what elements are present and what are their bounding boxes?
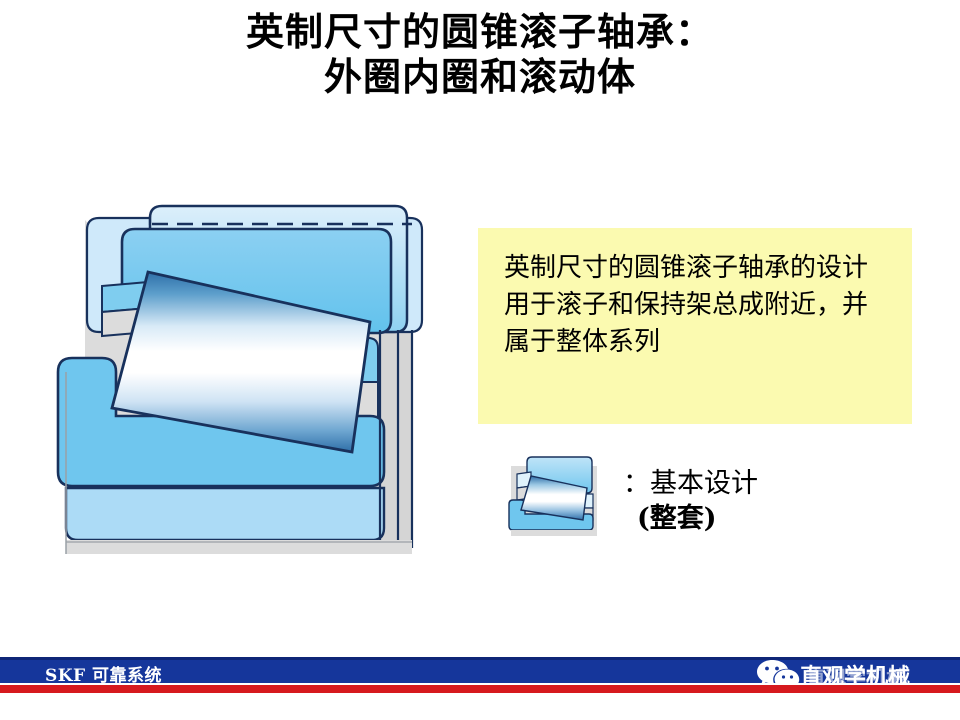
callout-note: 英制尺寸的圆锥滚子轴承的设计用于滚子和保持架总成附近，并属于整体系列 <box>478 228 912 424</box>
legend-label: ：基本设计 (整套) <box>623 466 758 536</box>
inner-ring-lower-band <box>66 488 384 540</box>
tapered-roller-bearing-mini-icon <box>505 452 609 544</box>
footer-red-stripe <box>0 685 960 693</box>
page-title-line-2: 外圈内圈和滚动体 <box>0 55 960 100</box>
legend-label-line-2: (整套) <box>623 501 758 536</box>
page-title-line-1: 英制尺寸的圆锥滚子轴承： <box>0 10 960 55</box>
page-title: 英制尺寸的圆锥滚子轴承： 外圈内圈和滚动体 <box>0 10 960 100</box>
slide-canvas: 英制尺寸的圆锥滚子轴承： 外圈内圈和滚动体 <box>0 0 960 720</box>
legend-row: ：基本设计 (整套) <box>505 452 905 552</box>
legend-label-line-1: ：基本设计 <box>623 466 758 501</box>
bearing-diagram-svg <box>40 180 470 580</box>
callout-note-text: 英制尺寸的圆锥滚子轴承的设计用于滚子和保持架总成附近，并属于整体系列 <box>504 250 892 361</box>
bearing-diagram <box>40 180 470 580</box>
